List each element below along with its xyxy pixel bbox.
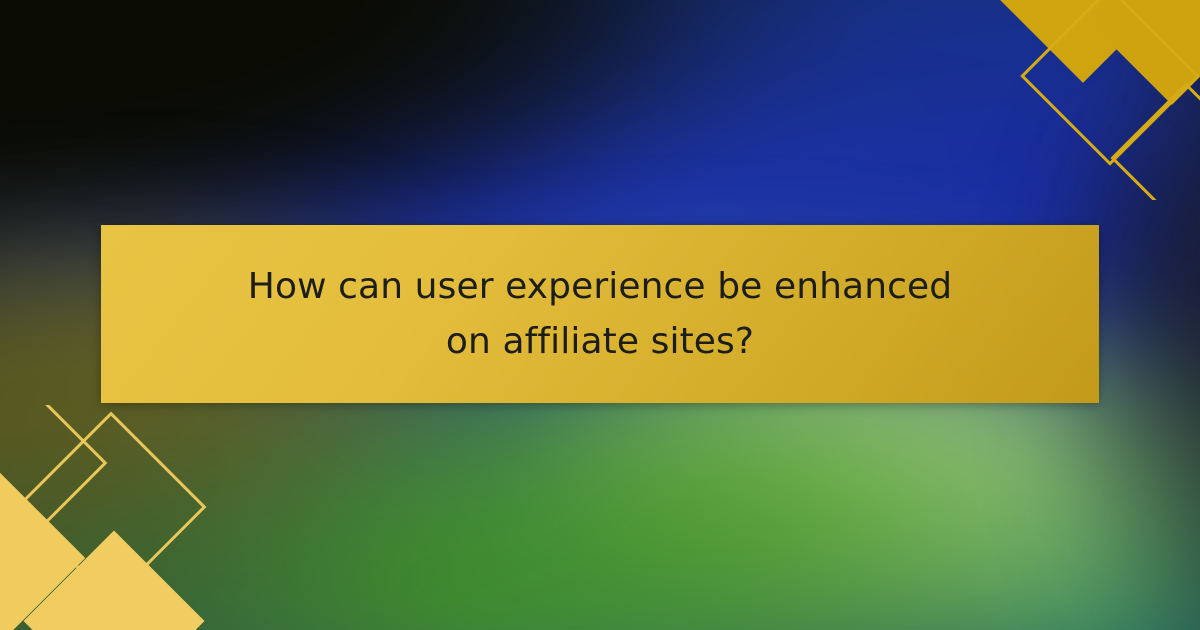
quote-card: How can user experience be enhanced on a… xyxy=(101,225,1099,403)
quote-text: How can user experience be enhanced on a… xyxy=(240,259,960,369)
quote-card-graphic: How can user experience be enhanced on a… xyxy=(0,0,1200,630)
